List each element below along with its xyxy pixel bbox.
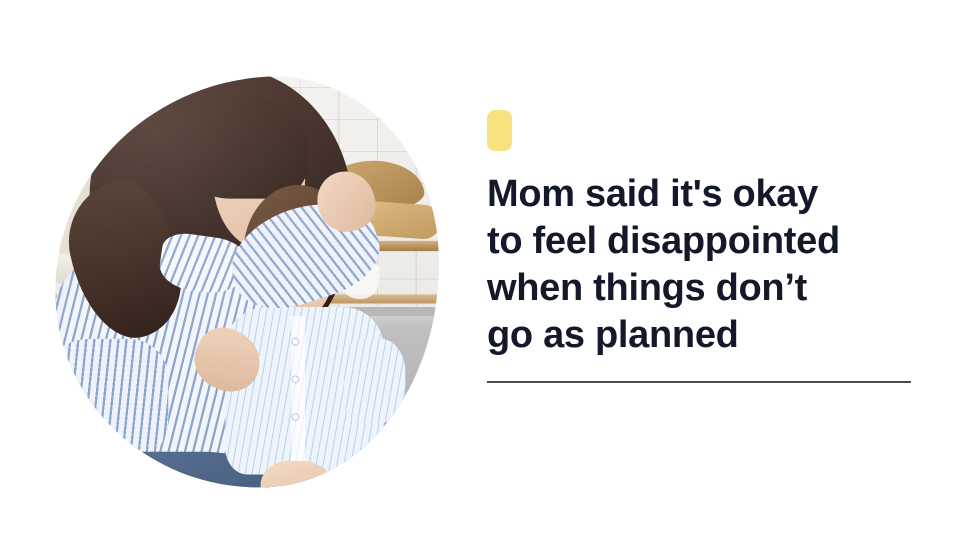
horizontal-rule: [487, 381, 911, 383]
child-sleeve: [344, 339, 405, 423]
child-shirt-button: [293, 414, 299, 420]
photo-image: [45, 68, 451, 498]
mother-sleeve: [45, 339, 169, 470]
slide-canvas: Mom said it's okay to feel disappointed …: [0, 0, 960, 540]
photo-scene: [45, 68, 451, 498]
photo-blob-mask: [45, 68, 451, 498]
photo-panel: [55, 78, 440, 488]
yellow-accent-mark: [487, 110, 512, 151]
text-column: Mom said it's okay to feel disappointed …: [487, 110, 917, 383]
headline-text: Mom said it's okay to feel disappointed …: [487, 151, 917, 359]
